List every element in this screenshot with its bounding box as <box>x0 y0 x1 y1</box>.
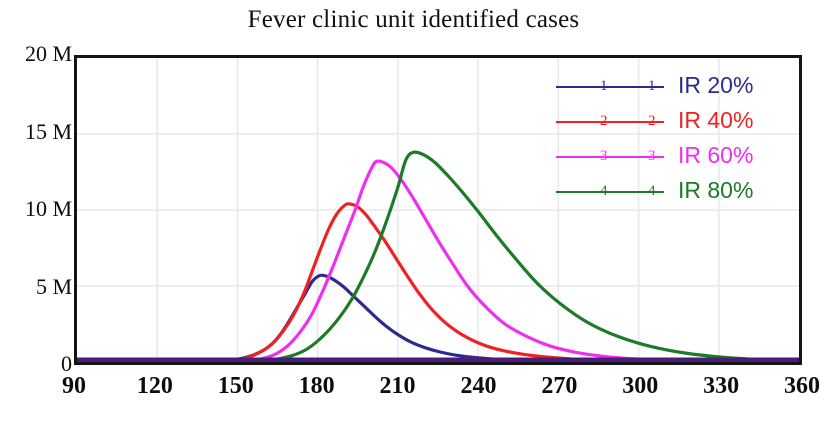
legend-marker: 1 <box>648 75 656 97</box>
legend-marker: 2 <box>648 110 656 132</box>
x-axis-tick-label: 210 <box>358 374 438 398</box>
x-axis-tick-label: 360 <box>762 374 827 398</box>
legend-item[interactable]: 44IR 80% <box>556 173 792 208</box>
x-axis-tick-label: 300 <box>600 374 680 398</box>
legend-swatch: 22 <box>556 110 664 132</box>
legend-swatch: 33 <box>556 145 664 167</box>
x-axis-ticks: 90120150180210240270300330360 <box>0 0 827 421</box>
legend-label: IR 80% <box>664 177 753 204</box>
legend-swatch: 11 <box>556 75 664 97</box>
legend-item[interactable]: 22IR 40% <box>556 103 792 138</box>
x-axis-tick-label: 90 <box>34 374 114 398</box>
legend-item[interactable]: 11IR 20% <box>556 68 792 103</box>
x-axis-tick-label: 120 <box>115 374 195 398</box>
chart-screenshot: Fever clinic unit identified cases 05 M1… <box>0 0 827 421</box>
x-axis-tick-label: 180 <box>277 374 357 398</box>
legend-marker: 4 <box>648 180 656 202</box>
legend-swatch: 44 <box>556 180 664 202</box>
legend-label: IR 60% <box>664 142 753 169</box>
x-axis-tick-label: 150 <box>196 374 276 398</box>
legend-marker: 3 <box>600 145 608 167</box>
legend-marker: 1 <box>600 75 608 97</box>
legend-marker: 4 <box>600 180 608 202</box>
legend-marker: 3 <box>648 145 656 167</box>
legend-marker: 2 <box>600 110 608 132</box>
legend-item[interactable]: 33IR 60% <box>556 138 792 173</box>
x-axis-tick-label: 240 <box>438 374 518 398</box>
legend-label: IR 40% <box>664 107 753 134</box>
legend-label: IR 20% <box>664 72 753 99</box>
chart-legend: 11IR 20%22IR 40%33IR 60%44IR 80% <box>556 68 792 208</box>
x-axis-tick-label: 270 <box>519 374 599 398</box>
x-axis-tick-label: 330 <box>681 374 761 398</box>
